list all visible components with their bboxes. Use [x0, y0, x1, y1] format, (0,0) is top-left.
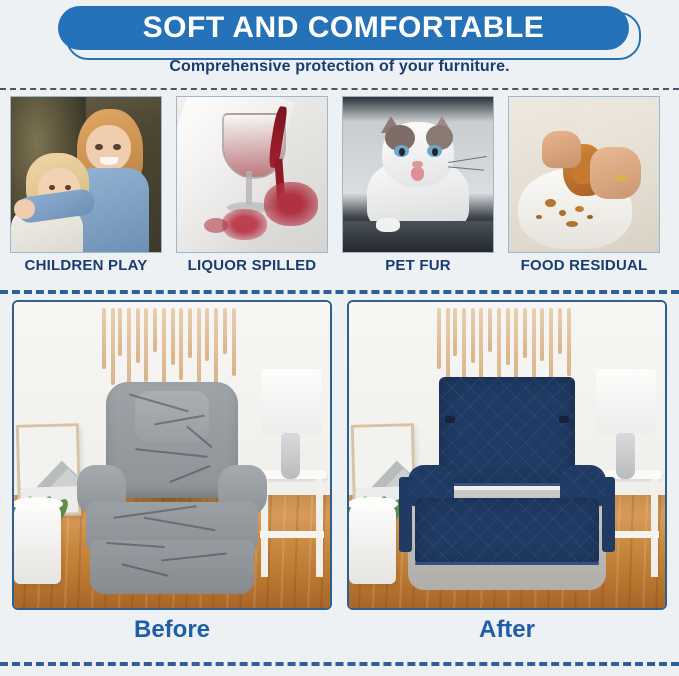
before-after-comparison: Before	[0, 300, 679, 650]
food-residual-illustration	[509, 97, 659, 252]
thumbnail-children-play	[10, 96, 162, 253]
pet-fur-illustration	[343, 97, 493, 252]
liquor-spilled-illustration	[177, 97, 327, 252]
header-banner: SOFT AND COMFORTABLE	[0, 2, 679, 54]
panel-before	[12, 300, 332, 610]
table-lamp	[261, 369, 321, 479]
label-after: After	[347, 616, 667, 644]
feature-label-children-play: CHILDREN PLAY	[2, 257, 170, 274]
divider-top	[0, 88, 679, 90]
label-before: Before	[12, 616, 332, 644]
white-stool	[349, 504, 396, 584]
feature-item-food-residual: FOOD RESIDUAL	[508, 96, 660, 253]
thumbnail-food-residual	[508, 96, 660, 253]
panel-after	[347, 300, 667, 610]
thumbnail-pet-fur	[342, 96, 494, 253]
infographic-page: SOFT AND COMFORTABLE Comprehensive prote…	[0, 0, 679, 676]
after-room-scene	[349, 302, 665, 608]
white-stool	[14, 504, 61, 584]
recliner-with-navy-cover	[415, 382, 598, 590]
feature-label-pet-fur: PET FUR	[334, 257, 502, 274]
feature-label-food-residual: FOOD RESIDUAL	[500, 257, 668, 274]
feature-thumbnail-row: CHILDREN PLAY	[0, 96, 679, 286]
page-title: SOFT AND COMFORTABLE	[58, 6, 629, 50]
divider-bottom	[0, 662, 679, 666]
divider-middle	[0, 290, 679, 294]
cover-seat	[415, 498, 598, 565]
page-subtitle: Comprehensive protection of your furnitu…	[0, 58, 679, 76]
thumbnail-liquor-spilled	[176, 96, 328, 253]
before-room-scene	[14, 302, 330, 608]
side-table	[257, 470, 327, 568]
feature-item-children-play: CHILDREN PLAY	[10, 96, 162, 253]
feature-item-liquor-spilled: LIQUOR SPILLED	[176, 96, 328, 253]
grey-recliner-worn	[80, 382, 263, 590]
cover-backrest	[439, 377, 575, 485]
children-play-illustration	[11, 97, 161, 252]
feature-item-pet-fur: PET FUR	[342, 96, 494, 253]
table-lamp	[596, 369, 656, 479]
feature-label-liquor-spilled: LIQUOR SPILLED	[168, 257, 336, 274]
